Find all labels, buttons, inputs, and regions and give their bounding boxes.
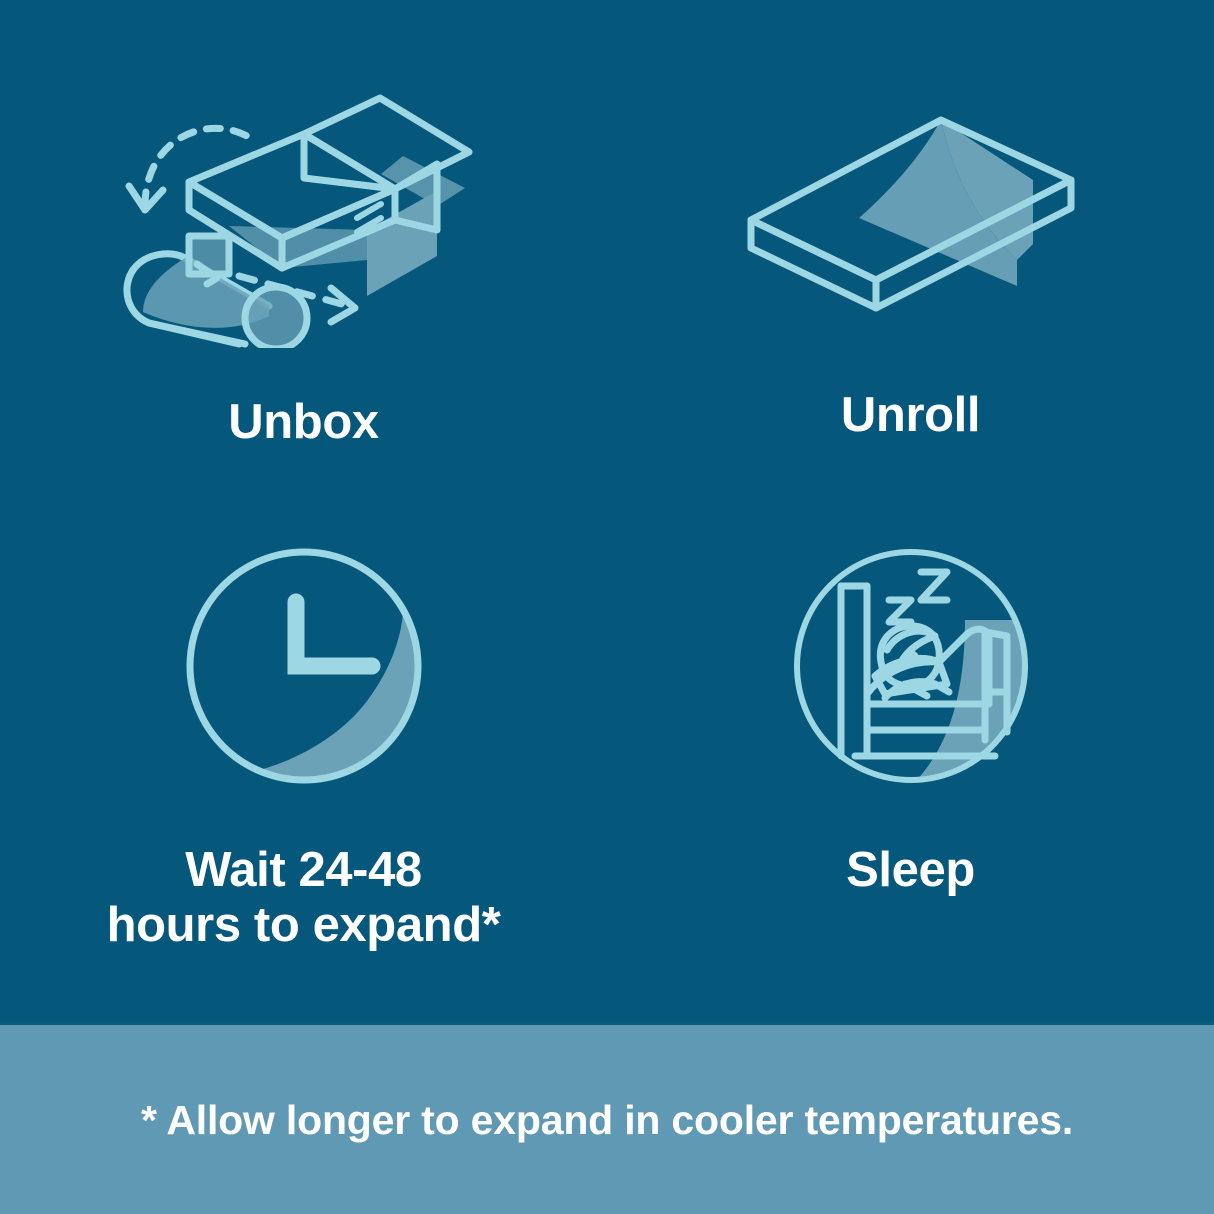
open-box-with-rolled-mattress-icon [119, 78, 499, 353]
footer-note: * Allow longer to expand in cooler tempe… [141, 1097, 1073, 1144]
flat-mattress-slab-icon [741, 108, 1081, 318]
step-unroll: Unroll [607, 0, 1214, 511]
mattress-setup-infographic: Unbox Unroll [0, 0, 1214, 1214]
step-label-sleep: Sleep [846, 843, 975, 898]
step-label-unbox: Unbox [228, 395, 378, 450]
step-wait: Wait 24-48 hours to expand* [0, 511, 607, 1022]
person-sleeping-in-bed-icon [789, 544, 1033, 793]
step-sleep: Sleep [607, 511, 1214, 1022]
step-label-unroll: Unroll [841, 388, 980, 443]
clock-icon [182, 544, 426, 793]
footer-band: * Allow longer to expand in cooler tempe… [0, 1022, 1214, 1214]
steps-grid: Unbox Unroll [0, 0, 1214, 1022]
step-label-wait: Wait 24-48 hours to expand* [107, 843, 501, 954]
step-unbox: Unbox [0, 0, 607, 511]
